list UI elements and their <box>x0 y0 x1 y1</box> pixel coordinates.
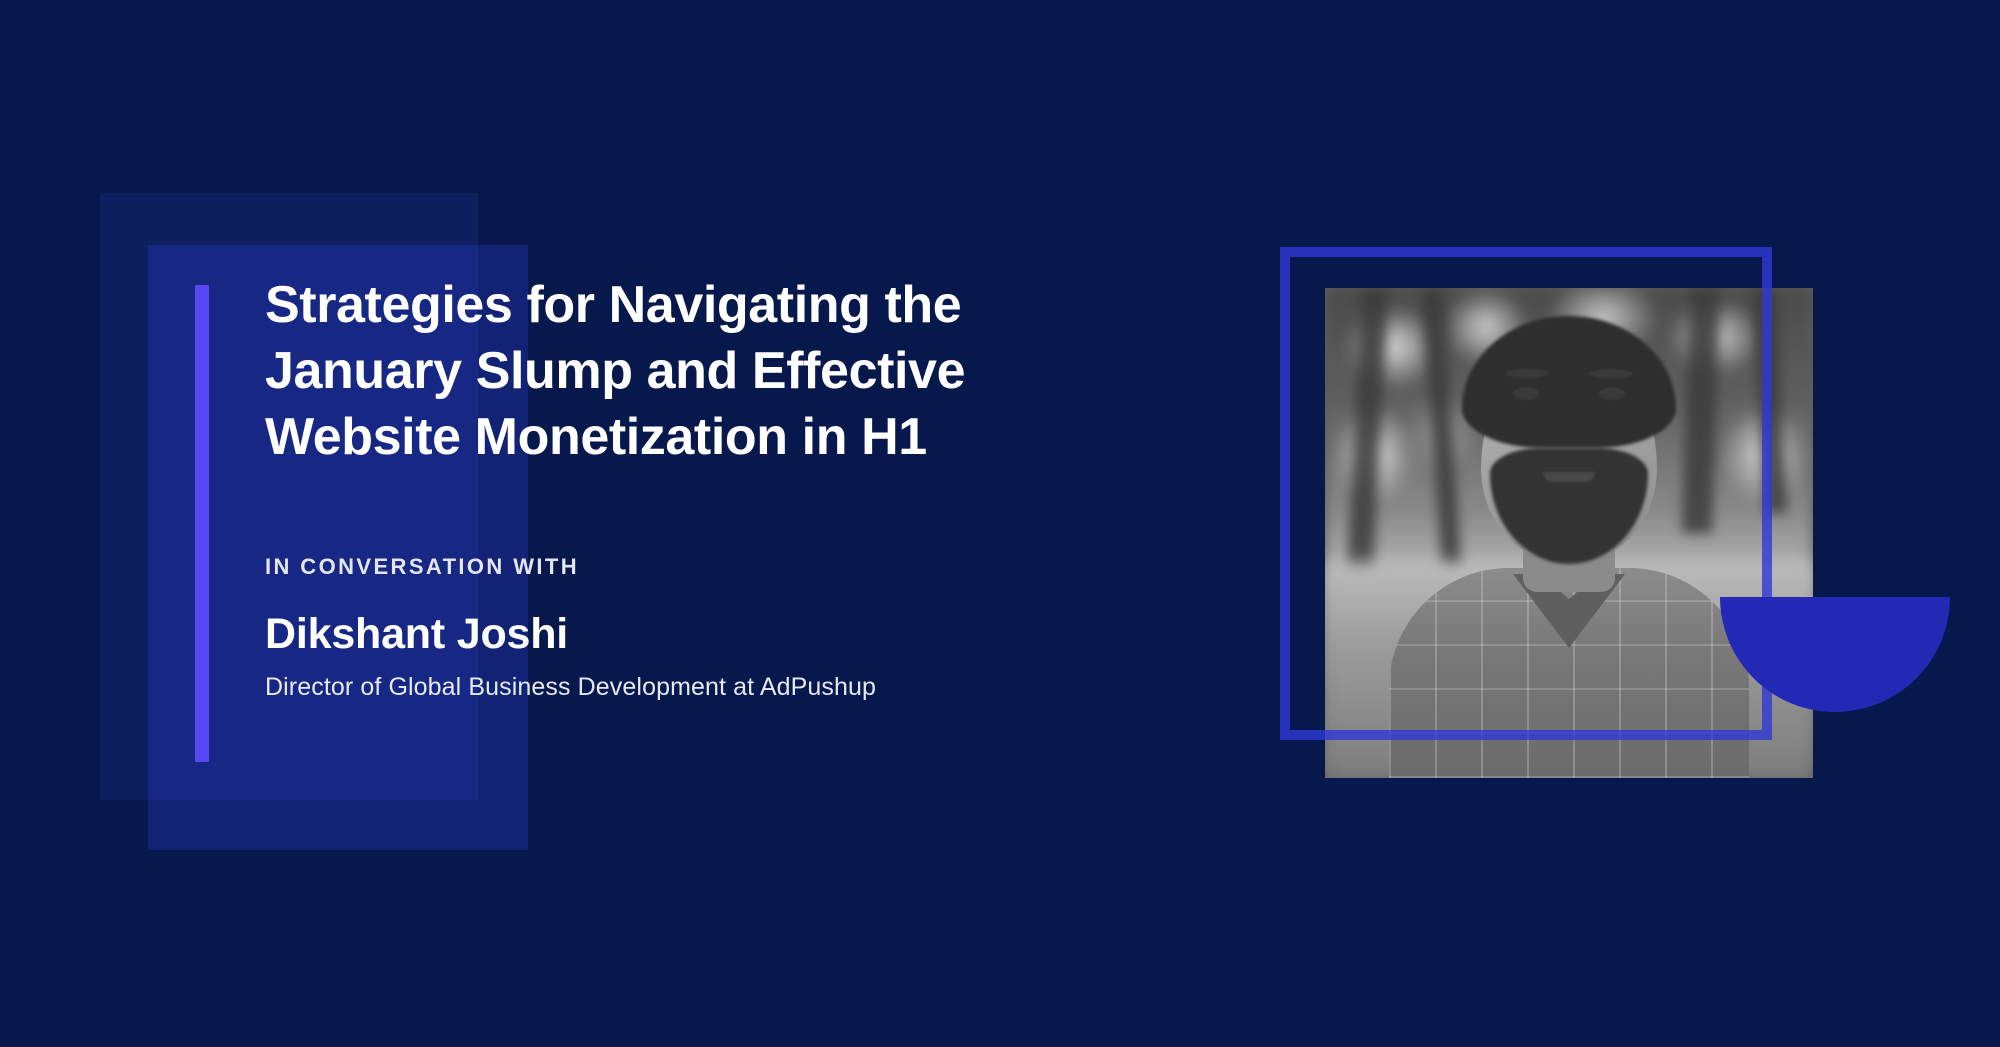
speaker-photo <box>1325 288 1813 778</box>
subject-eyebrow <box>1505 369 1549 378</box>
subject-mouth <box>1543 472 1595 482</box>
talk-title: Strategies for Navigating the January Sl… <box>265 272 1095 470</box>
webinar-promo-banner: Strategies for Navigating the January Sl… <box>0 0 2000 1047</box>
subject-torso <box>1389 568 1749 778</box>
subject-beard <box>1490 448 1648 564</box>
subject-eye <box>1513 387 1539 400</box>
text-block: Strategies for Navigating the January Sl… <box>265 272 1095 702</box>
photo-subject <box>1325 288 1813 778</box>
subject-eye <box>1599 387 1625 400</box>
subject-hair <box>1462 316 1676 448</box>
subject-eyebrow <box>1589 369 1633 378</box>
eyebrow-label: IN CONVERSATION WITH <box>265 470 1095 580</box>
speaker-role: Director of Global Business Development … <box>265 659 1095 702</box>
accent-bar <box>195 285 209 762</box>
speaker-name: Dikshant Joshi <box>265 580 1095 659</box>
photo-canvas <box>1325 288 1813 778</box>
